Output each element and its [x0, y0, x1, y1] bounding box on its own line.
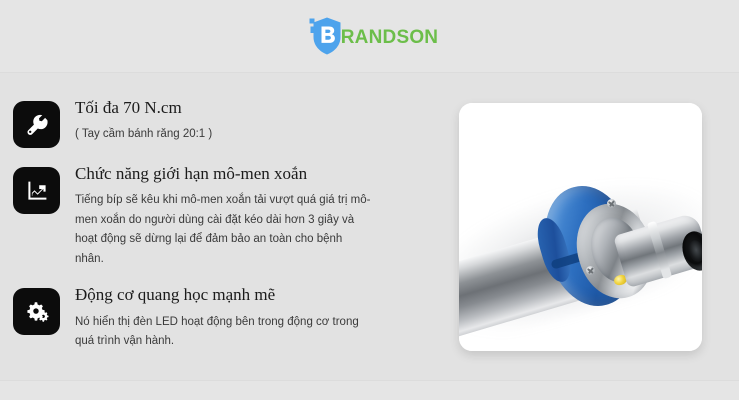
shield-b-logo-icon — [309, 16, 343, 56]
brand-logo-word: RANDSON — [341, 28, 438, 47]
feature-description: Nó hiển thị đèn LED hoạt động bên trong … — [75, 313, 371, 352]
feature-list: Tối đa 70 N.cm ( Tay cầm bánh răng 20:1 … — [13, 96, 413, 366]
top-band-divider — [0, 72, 739, 73]
dental-handpiece-photo — [459, 103, 702, 351]
hub-screw — [586, 266, 595, 275]
bottom-band-divider — [0, 380, 739, 381]
gears-icon — [13, 288, 60, 335]
brand-logo[interactable]: RANDSON — [309, 16, 438, 56]
feature-item-torque: Tối đa 70 N.cm ( Tay cầm bánh răng 20:1 … — [13, 96, 413, 148]
hub-screw — [607, 199, 616, 208]
feature-item-motor: Động cơ quang học mạnh mẽ Nó hiển thị đè… — [13, 283, 413, 351]
feature-item-torque-limit: Chức năng giới hạn mô-men xoắn Tiếng bíp… — [13, 162, 413, 269]
feature-text-block: Động cơ quang học mạnh mẽ Nó hiển thị đè… — [75, 283, 371, 351]
page-header: RANDSON — [0, 0, 739, 72]
feature-title: Chức năng giới hạn mô-men xoắn — [75, 163, 371, 184]
feature-description: Tiếng bíp sẽ kêu khi mô-men xoắn tải vượ… — [75, 191, 371, 269]
feature-title: Tối đa 70 N.cm — [75, 97, 212, 118]
chart-trend-up-icon — [13, 167, 60, 214]
feature-text-block: Tối đa 70 N.cm ( Tay cầm bánh răng 20:1 … — [75, 96, 212, 145]
wrench-icon — [13, 101, 60, 148]
feature-description: ( Tay cầm bánh răng 20:1 ) — [75, 125, 212, 145]
feature-title: Động cơ quang học mạnh mẽ — [75, 284, 371, 305]
feature-text-block: Chức năng giới hạn mô-men xoắn Tiếng bíp… — [75, 162, 371, 269]
bottom-band — [0, 380, 739, 400]
product-image-card — [459, 103, 702, 351]
